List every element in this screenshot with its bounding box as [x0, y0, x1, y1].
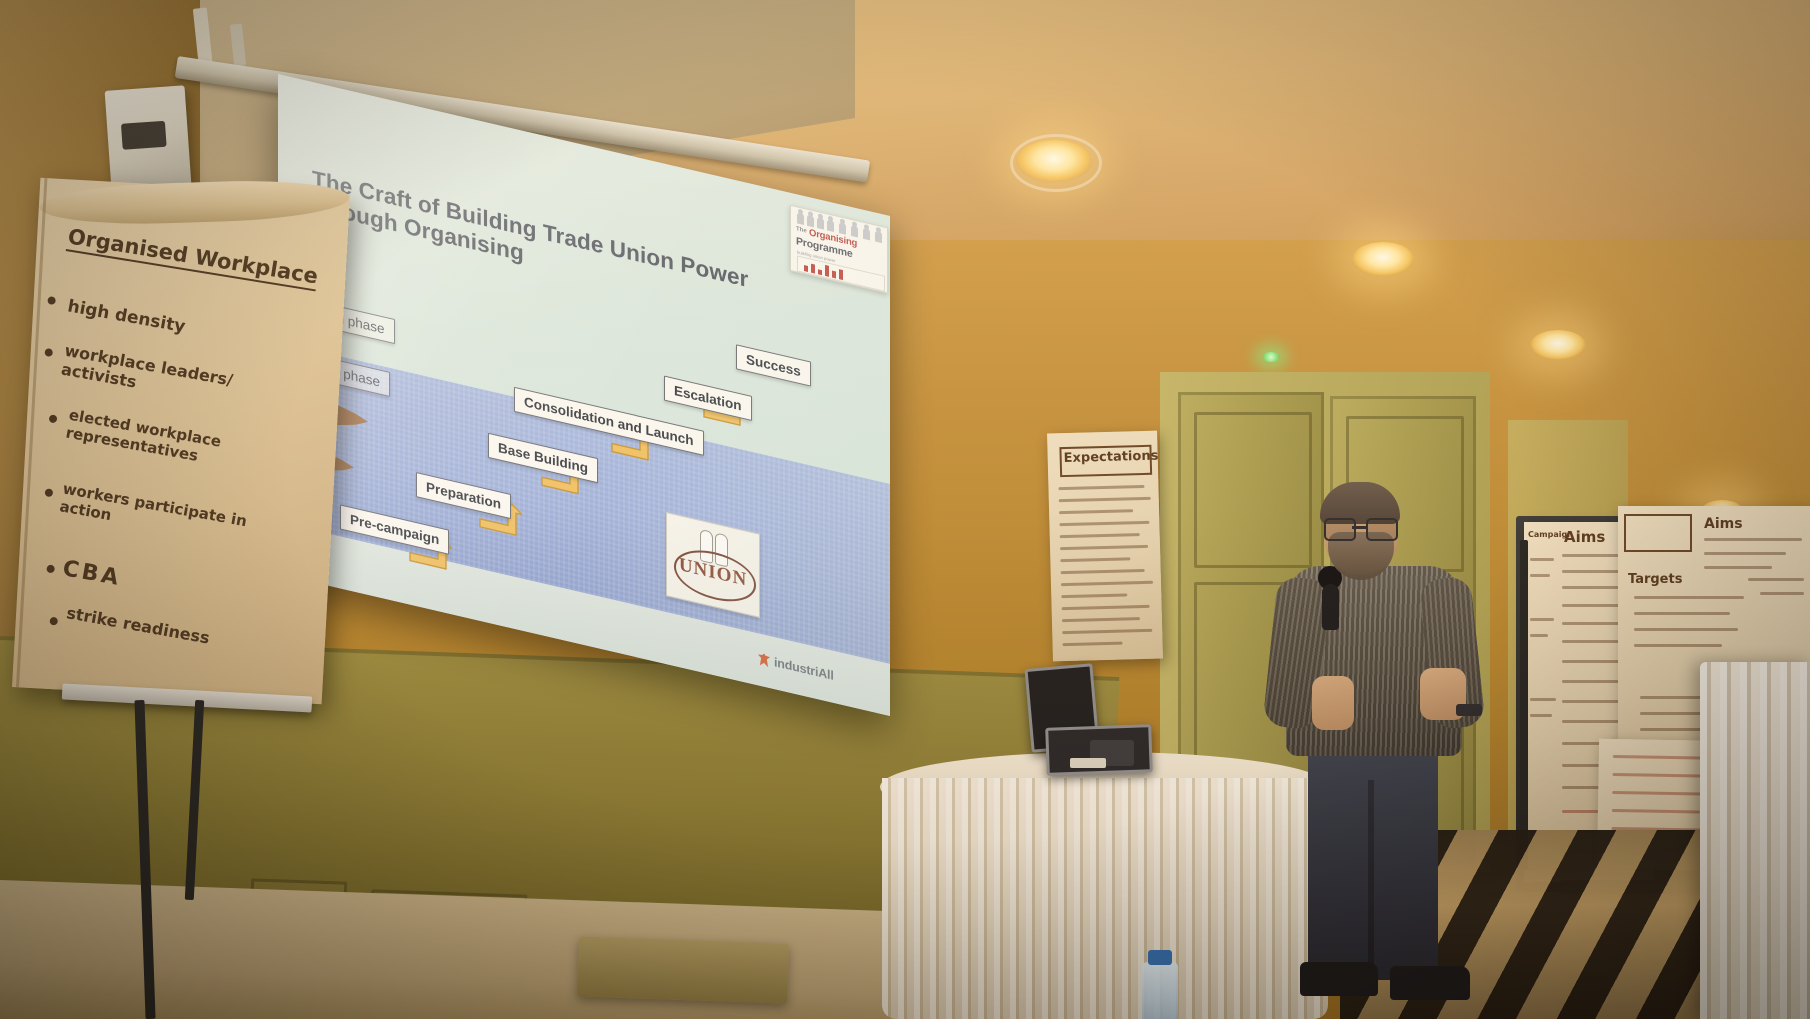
flipchart-title: Organised Workplace — [66, 224, 320, 291]
flipchart-bullet: workplace leaders/ activists — [60, 341, 273, 416]
bullet-dot — [46, 565, 54, 573]
paper-line — [1060, 533, 1140, 538]
wristwatch — [1456, 704, 1482, 716]
paper-line — [1060, 557, 1130, 562]
person-icon — [863, 228, 870, 241]
paper-line — [1530, 634, 1548, 637]
paper-line — [1530, 618, 1554, 621]
flipchart-bullet: CBA — [61, 556, 123, 591]
flipchart-bullet: high density — [66, 296, 187, 337]
paper-line — [1062, 605, 1150, 610]
paper-line — [1612, 809, 1700, 814]
presenter-shoe — [1390, 966, 1470, 1000]
paper-line — [1530, 574, 1550, 577]
paper-line — [1530, 714, 1552, 717]
paper-line — [1634, 612, 1730, 615]
speaker-grill — [121, 121, 167, 150]
targets-header-box — [1624, 514, 1692, 552]
trouser-seam — [1368, 780, 1374, 980]
industriall-mark-icon — [758, 652, 770, 668]
paper-line — [1061, 569, 1145, 574]
person-icon — [827, 219, 834, 232]
paper-line — [1061, 581, 1153, 586]
paper-line — [1530, 558, 1554, 561]
bullet-dot — [47, 296, 55, 304]
eyeglass-lens — [1366, 518, 1398, 541]
paper-line — [1760, 592, 1804, 595]
paper-line — [1063, 642, 1123, 647]
paper-line — [1062, 617, 1140, 622]
water-bottle — [1142, 962, 1178, 1019]
person-icon — [875, 231, 882, 244]
paper-line — [1062, 629, 1152, 634]
projection-screen-assembly: The Craft of Building Trade Union Power … — [278, 74, 898, 674]
flipchart-bullet: workers participate in action — [58, 480, 261, 551]
presenter-hand-mic — [1312, 676, 1354, 730]
paper-line — [1058, 485, 1144, 490]
org-logo-line1: The — [796, 226, 807, 234]
slide-step-success: Success — [736, 344, 811, 386]
radiator — [577, 936, 789, 1003]
person-icon — [851, 225, 858, 238]
microphone — [1322, 584, 1339, 630]
eyeglass-bridge — [1352, 526, 1368, 529]
paper-line — [1059, 521, 1149, 526]
eyeglass-lens — [1324, 518, 1356, 541]
flipchart-bullet: elected workplace representatives — [64, 406, 267, 477]
paper-line — [1748, 578, 1804, 581]
paper-line — [1634, 628, 1738, 631]
expectations-title: Expectations — [1064, 449, 1159, 466]
ceiling-spotlight — [1262, 352, 1280, 362]
person-icon — [817, 217, 824, 230]
flipchart-organised-workplace: Organised Workplace high density workpla… — [12, 178, 350, 705]
bullet-dot — [50, 617, 58, 625]
bottle-cap — [1148, 950, 1172, 965]
presenter-shoe — [1300, 962, 1378, 996]
ceiling-spotlight-ring — [1010, 134, 1102, 192]
paper-line — [1612, 773, 1708, 778]
paper-line — [1704, 538, 1802, 541]
wall-speaker — [105, 85, 192, 190]
equipment-cable — [1070, 758, 1106, 768]
presentation-room-photo: The Craft of Building Trade Union Power … — [0, 0, 1810, 1019]
flipchart-right-title-targets: Targets — [1628, 572, 1682, 587]
ceiling-spotlight — [1530, 330, 1586, 360]
paper-line — [1060, 545, 1148, 550]
paper-line — [1704, 552, 1786, 555]
paper-line — [1061, 593, 1127, 598]
paper-line — [1634, 644, 1722, 647]
ceiling-spotlight — [1352, 242, 1414, 276]
eyeglasses-icon — [1324, 518, 1396, 538]
presenter — [1250, 480, 1500, 1019]
paper-line — [1530, 698, 1556, 701]
paper-line — [1634, 596, 1744, 599]
bullet-dot — [45, 488, 53, 496]
paper-line — [1059, 497, 1151, 502]
flipchart-right-title-campaign: Campaign — [1528, 530, 1573, 539]
window-curtain — [1700, 662, 1810, 1019]
person-icon — [839, 222, 846, 235]
paper-line — [1059, 509, 1133, 514]
slide-title: The Craft of Building Trade Union Power … — [312, 166, 832, 338]
flipchart-right-title-aims-2: Aims — [1704, 516, 1743, 532]
easel-leg-right — [1520, 540, 1528, 870]
bullet-dot — [45, 348, 53, 356]
flipchart-paper-curl — [39, 178, 350, 228]
paper-line — [1704, 566, 1772, 569]
person-icon — [807, 215, 814, 228]
person-icon — [797, 212, 804, 225]
bullet-dot — [49, 415, 57, 423]
flipchart-bullet: strike readiness — [65, 603, 211, 647]
wall-paper-expectations: Expectations — [1047, 431, 1163, 662]
